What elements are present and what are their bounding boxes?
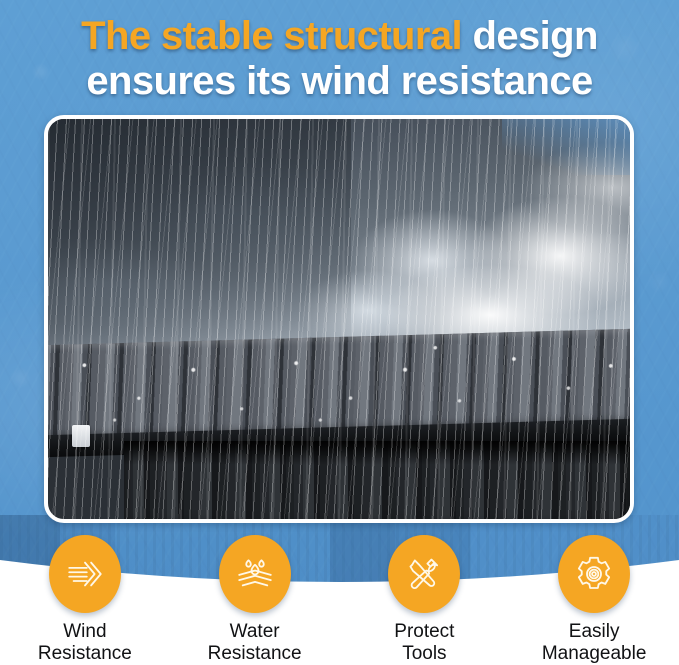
protect-tools-badge <box>388 535 460 613</box>
gear-icon <box>573 553 615 595</box>
feature-item-water-resistance: Water Resistance <box>180 535 330 665</box>
feature-item-easily-manageable: Easily Manageable <box>519 535 669 665</box>
wind-resistance-badge <box>49 535 121 613</box>
headline-highlight: The stable structural <box>81 14 462 58</box>
blue-sky-patch <box>502 119 630 175</box>
wind-icon <box>64 553 106 595</box>
storm-clouds-dark <box>48 119 351 347</box>
feature-label: Easily Manageable <box>542 621 647 665</box>
product-feature-banner: The stable structural design ensures its… <box>0 0 679 665</box>
water-icon <box>234 553 276 595</box>
wall-top-shadow <box>124 441 630 465</box>
headline-line-2: ensures its wind resistance <box>0 59 679 104</box>
feature-label: Protect Tools <box>394 621 454 665</box>
headline-line-1-rest: design <box>462 14 598 58</box>
feature-item-wind-resistance: Wind Resistance <box>10 535 160 665</box>
product-photo <box>48 119 630 519</box>
downspout-bracket <box>72 425 91 447</box>
product-photo-frame <box>44 115 634 523</box>
easily-manageable-badge <box>558 535 630 613</box>
feature-list: Wind Resistance Water Resistance <box>0 535 679 665</box>
feature-label: Water Resistance <box>208 621 302 665</box>
feature-item-protect-tools: Protect Tools <box>349 535 499 665</box>
water-resistance-badge <box>219 535 291 613</box>
feature-label: Wind Resistance <box>38 621 132 665</box>
headline-line-1: The stable structural design <box>0 14 679 59</box>
tools-icon <box>403 553 445 595</box>
page-title: The stable structural design ensures its… <box>0 14 679 104</box>
